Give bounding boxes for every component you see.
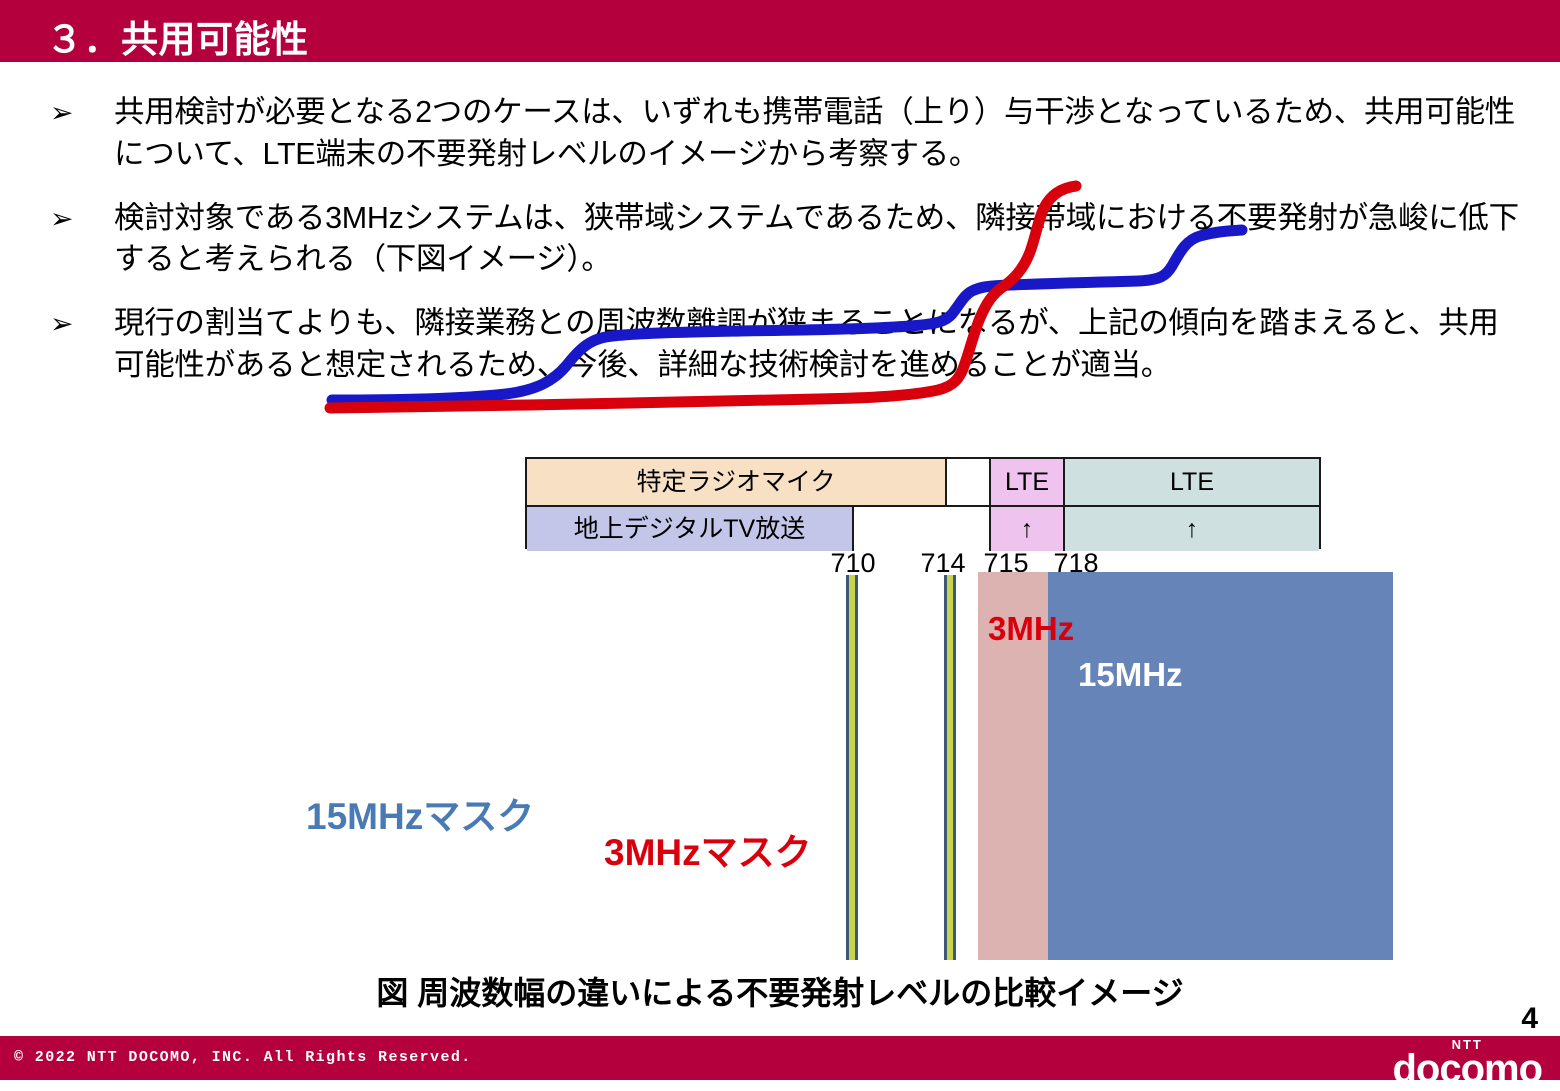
logo-docomo-text: docomo	[1392, 1049, 1542, 1089]
figure-caption: 図 周波数幅の違いによる不要発射レベルの比較イメージ	[0, 968, 1560, 1014]
label-15mhz-mask: 15MHzマスク	[306, 798, 534, 835]
freq-tick-714: 714	[912, 550, 974, 577]
mask-curves-svg	[270, 118, 1450, 530]
label-3mhz-mask: 3MHzマスク	[604, 834, 812, 871]
chevron-bullet-icon: ➢	[50, 99, 84, 127]
emission-mask-plot	[270, 118, 1450, 530]
chevron-bullet-icon: ➢	[50, 310, 84, 338]
vertical-marker-710	[846, 575, 858, 960]
footer-bar: © 2022 NTT DOCOMO, INC. All Rights Reser…	[0, 1036, 1560, 1080]
page-number: 4	[1521, 1002, 1538, 1036]
docomo-logo: NTT docomo	[1392, 1038, 1542, 1089]
chevron-bullet-icon: ➢	[50, 205, 84, 233]
page-title: ３．共用可能性	[46, 9, 309, 63]
label-3mhz-band: 3MHz	[988, 612, 1074, 645]
vertical-marker-714	[944, 575, 956, 960]
freq-tick-710: 710	[822, 550, 884, 577]
label-15mhz-band: 15MHz	[1078, 658, 1183, 691]
curve-15mhz-mask	[332, 230, 1242, 400]
copyright-text: © 2022 NTT DOCOMO, INC. All Rights Reser…	[14, 1049, 472, 1066]
shaded-region-15mhz	[1048, 572, 1393, 960]
